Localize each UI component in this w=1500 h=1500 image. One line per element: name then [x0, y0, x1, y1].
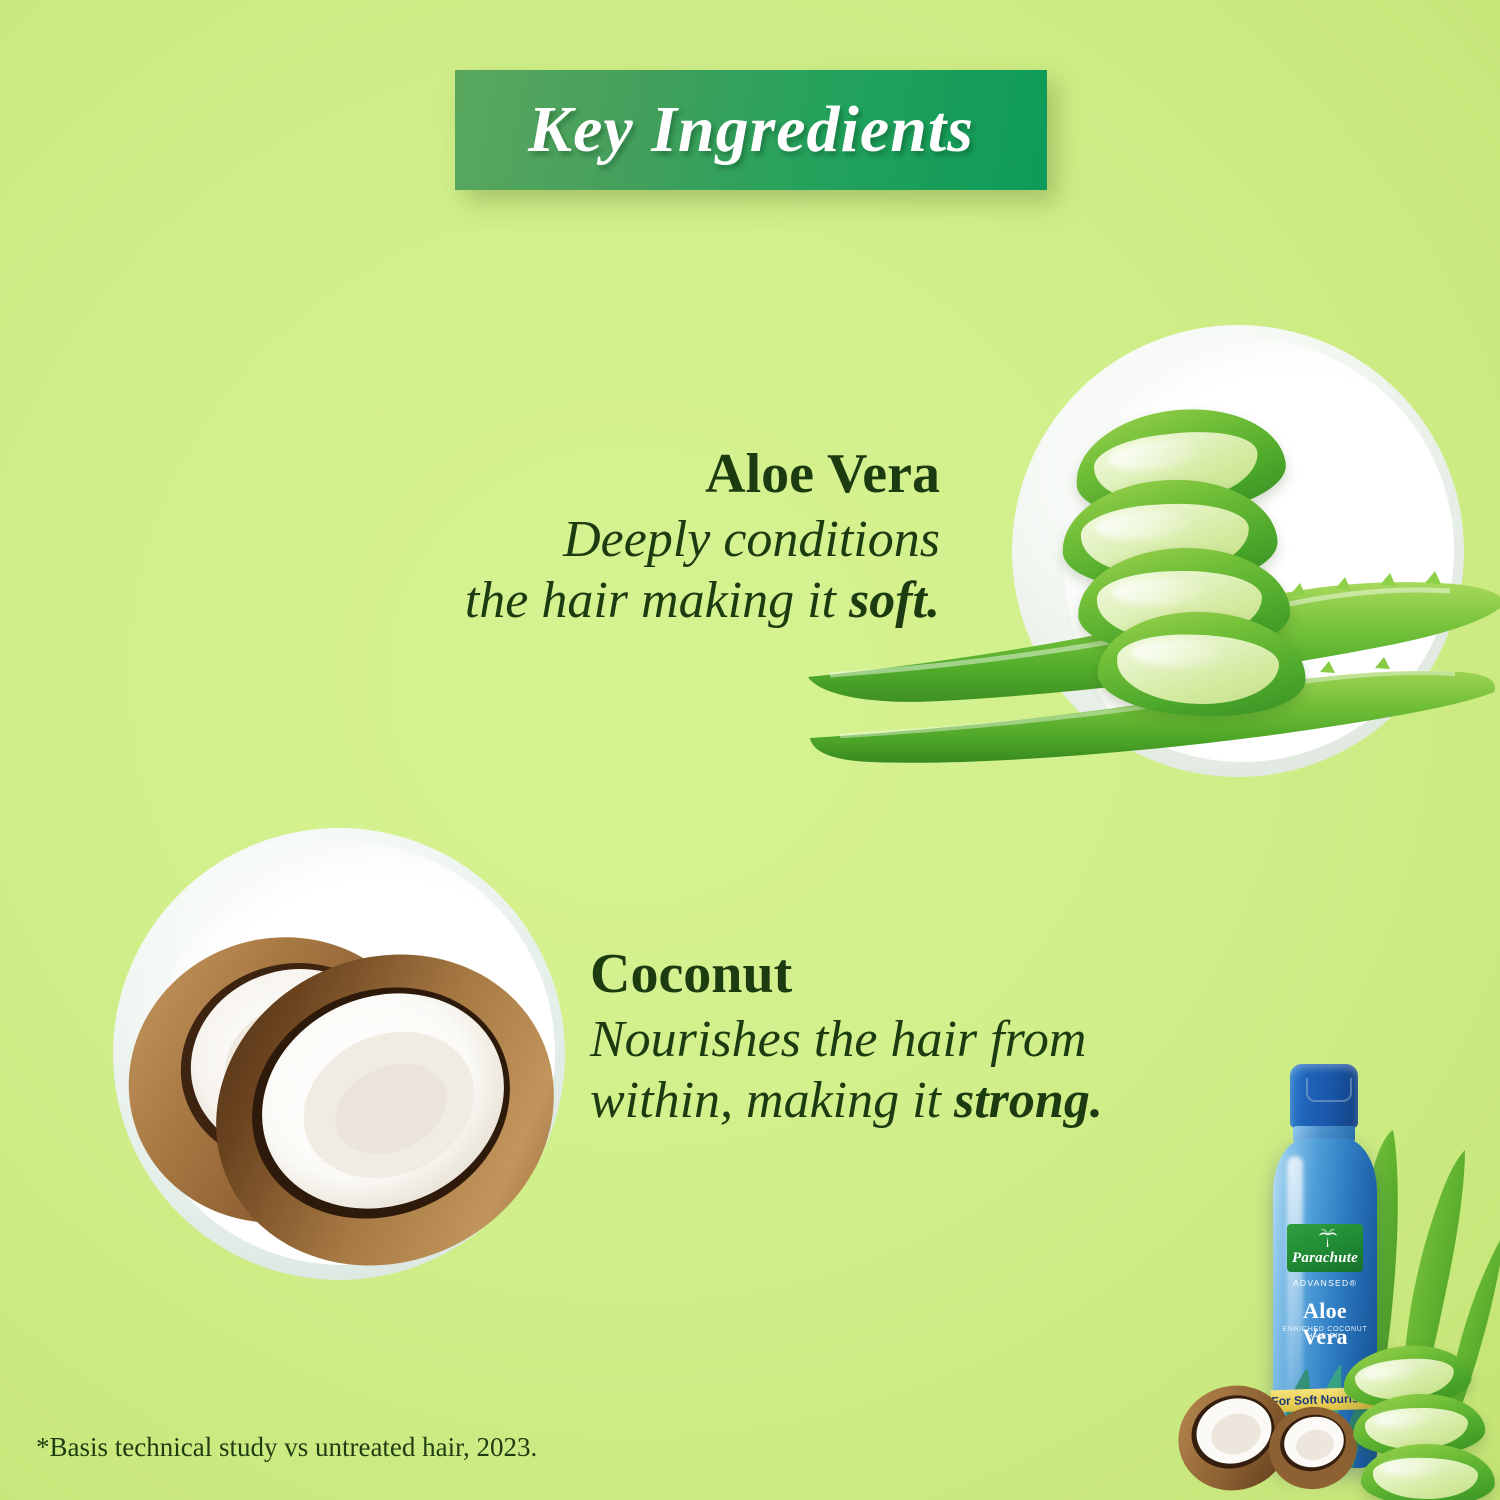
- brand-name: Parachute: [1285, 1250, 1365, 1267]
- coconut-desc-line-2-text: within, making it: [590, 1072, 954, 1129]
- coconut-heading: Coconut: [590, 945, 1290, 1004]
- key-ingredients-banner: Key Ingredients: [455, 70, 1047, 190]
- palm-tree-icon: [1317, 1227, 1339, 1249]
- aloe-vera-desc-emphasis: soft.: [849, 572, 940, 629]
- product-pack-shot: Parachute ADVANSED® Aloe Vera ENRICHED C…: [1175, 1050, 1500, 1500]
- page-title: Key Ingredients: [528, 92, 974, 168]
- aloe-slice-4: [1096, 608, 1308, 719]
- aloe-vera-desc-line-2-text: the hair making it: [465, 572, 849, 629]
- key-ingredients-poster: Key Ingredients: [0, 0, 1500, 1500]
- brand-subtitle: ADVANSED®: [1283, 1278, 1367, 1288]
- aloe-slice-accent-3: [1360, 1443, 1495, 1500]
- aloe-vera-desc-line-1: Deeply conditions: [300, 510, 940, 571]
- aloe-vera-heading: Aloe Vera: [300, 445, 940, 504]
- aloe-vera-text-block: Aloe Vera Deeply conditions the hair mak…: [300, 445, 940, 631]
- coconut-desc-emphasis: strong.: [954, 1072, 1103, 1129]
- coconut-accent-right-icon: [1267, 1402, 1359, 1494]
- bottle-cap-notch: [1306, 1078, 1352, 1102]
- aloe-vera-desc-line-2: the hair making it soft.: [300, 571, 940, 632]
- coconut-half-front-icon: [205, 945, 565, 1275]
- footnote-disclaimer: *Basis technical study vs untreated hair…: [36, 1432, 537, 1463]
